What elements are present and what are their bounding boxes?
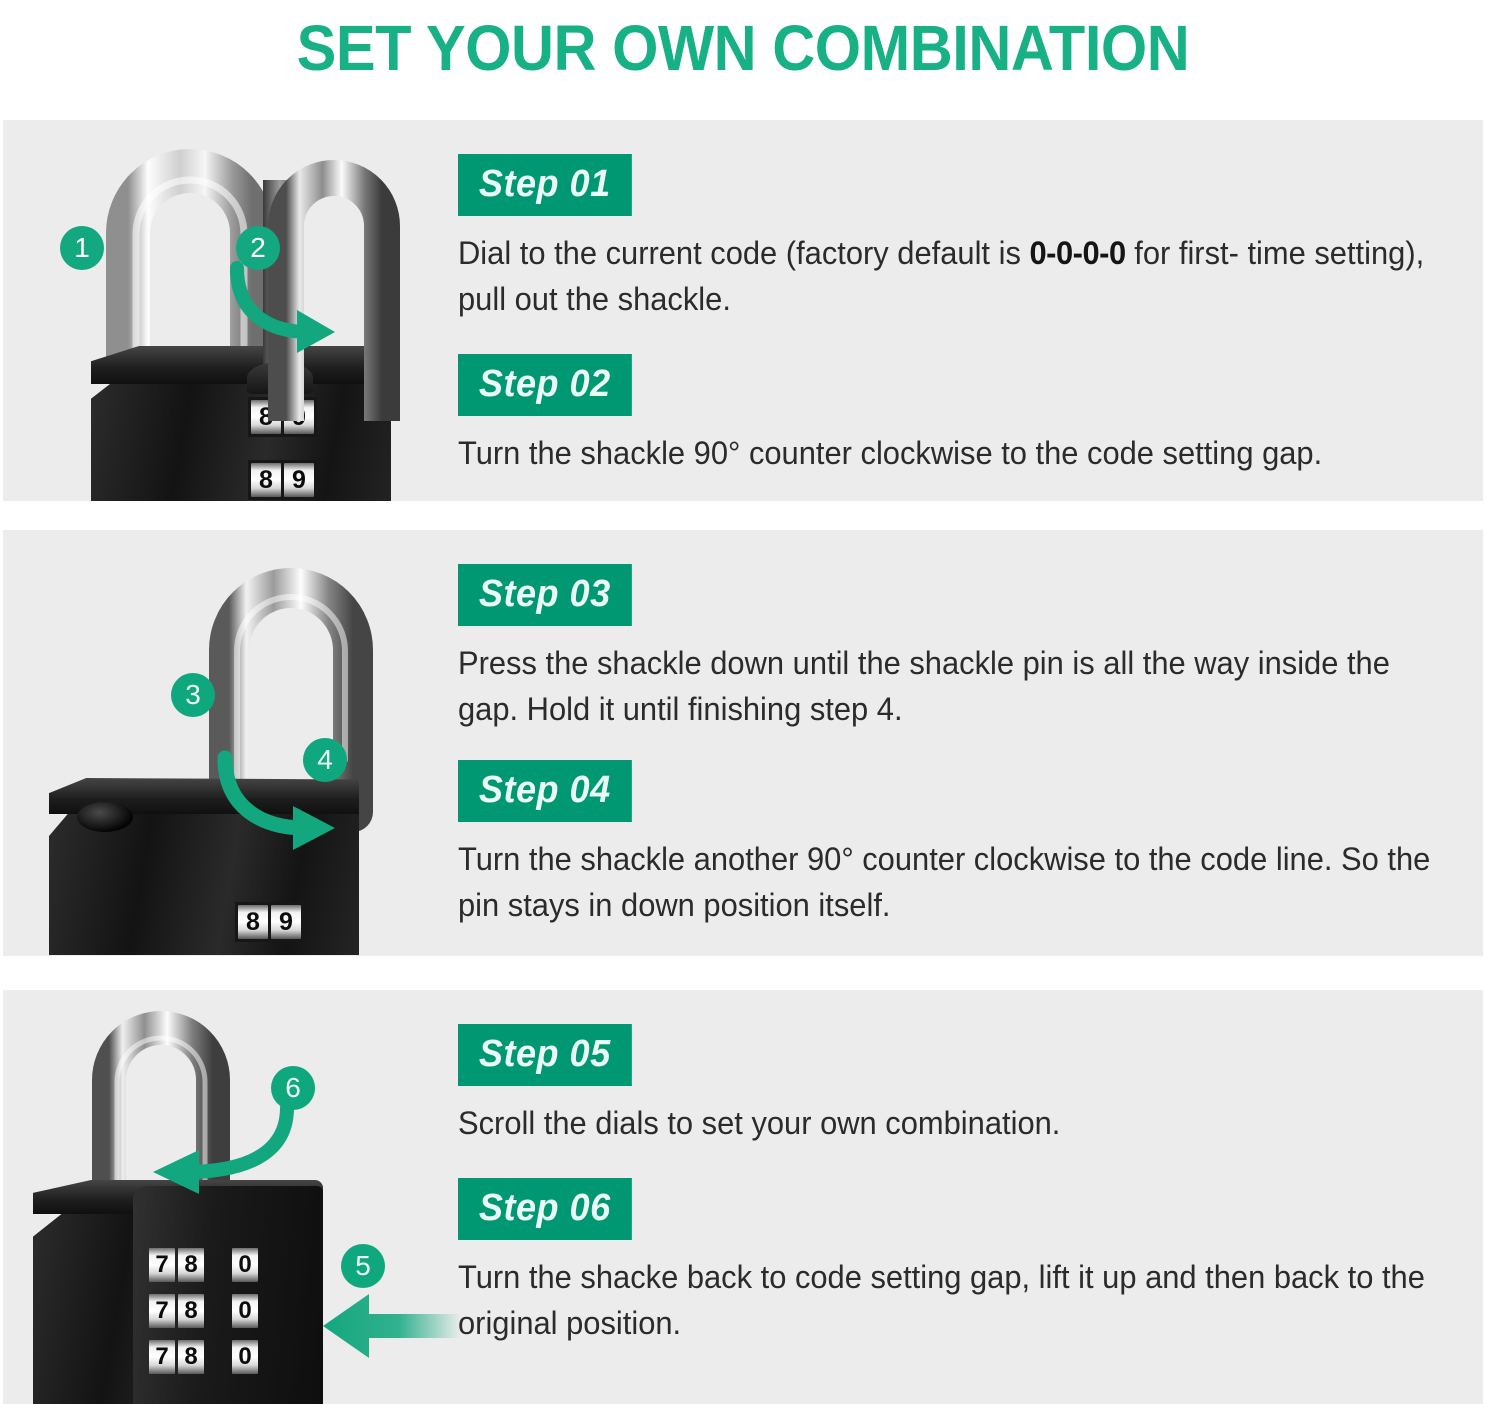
dial-digit[interactable]: 7 [149,1340,175,1374]
padlock-figure-3: 7 8 0 7 8 0 7 8 0 [3,990,458,1404]
step-block-02: Step 02 Turn the shackle 90° counter clo… [458,354,1443,476]
rotate-arrow-icon [119,1100,299,1210]
step-badge: Step 04 [458,760,632,822]
press-arrow-icon [321,1290,461,1362]
shackle-hole [77,802,133,832]
marker-3: 3 [171,673,215,717]
dial-digit[interactable]: 8 [251,463,281,497]
step-block-05: Step 05 Scroll the dials to set your own… [458,1024,1443,1146]
step-body-text: Turn the shacke back to code setting gap… [458,1254,1441,1346]
step-text-bold: 0-0-0-0 [1029,235,1125,271]
dial-digit[interactable]: 8 [238,905,268,939]
page-title: SET YOUR OWN COMBINATION [297,16,1190,80]
step-badge: Step 05 [458,1024,632,1086]
step-text-before: Scroll the dials to set your own combina… [458,1105,1060,1141]
marker-4: 4 [303,738,347,782]
dial-digit[interactable]: 7 [149,1294,175,1328]
dial-row[interactable]: 8 9 [238,905,301,939]
header-bar: SET YOUR OWN COMBINATION [0,0,1486,96]
dial-row[interactable]: 8 9 [251,463,314,497]
dial-group-a[interactable]: 8 9 [235,902,304,942]
dial-digit[interactable]: 0 [232,1340,258,1374]
step-text-before: Dial to the current code (factory defaul… [458,235,1029,271]
step-panel-1: 8 9 8 9 1 2 [3,120,1483,501]
step-badge: Step 01 [458,154,632,216]
padlock-figure-2: 8 9 3 4 [3,530,458,956]
dial-digit[interactable]: 0 [232,1248,258,1282]
dial-group-b[interactable]: 8 9 [248,460,317,500]
step-body-text: Scroll the dials to set your own combina… [458,1100,1441,1146]
padlock-figure-1: 8 9 8 9 1 2 [3,120,458,501]
step-panel-2: 8 9 3 4 Step 03 Press the shackle down u… [3,530,1483,956]
infographic-page: SET YOUR OWN COMBINATION [0,0,1486,1404]
marker-1: 1 [60,226,104,270]
step-text-before: Turn the shackle another 90° counter clo… [458,841,1430,923]
step-badge: Step 03 [458,564,632,626]
step-block-04: Step 04 Turn the shackle another 90° cou… [458,760,1443,928]
step-body-text: Dial to the current code (factory defaul… [458,230,1441,322]
marker-5: 5 [341,1244,385,1288]
step-badge: Step 02 [458,354,632,416]
step-block-03: Step 03 Press the shackle down until the… [458,564,1443,732]
step-block-01: Step 01 Dial to the current code (factor… [458,154,1443,322]
dial-row[interactable]: 7 8 0 [149,1294,258,1328]
dial-digit[interactable]: 0 [232,1294,258,1328]
dial-digit[interactable]: 9 [284,463,314,497]
step-block-06: Step 06 Turn the shacke back to code set… [458,1178,1443,1346]
step-text-column-1: Step 01 Dial to the current code (factor… [458,120,1483,501]
dial-digit[interactable]: 8 [178,1294,204,1328]
marker-6: 6 [271,1066,315,1110]
step-text-column-2: Step 03 Press the shackle down until the… [458,530,1483,956]
step-text-column-3: Step 05 Scroll the dials to set your own… [458,990,1483,1404]
dial-digit[interactable]: 7 [149,1248,175,1282]
dial-digit[interactable]: 8 [178,1248,204,1282]
step-panel-3: 7 8 0 7 8 0 7 8 0 [3,990,1483,1404]
dial-row[interactable]: 7 8 0 [149,1248,258,1282]
step-body-text: Turn the shackle 90° counter clockwise t… [458,430,1441,476]
step-badge: Step 06 [458,1178,632,1240]
step-body-text: Turn the shackle another 90° counter clo… [458,836,1441,928]
dial-row[interactable]: 7 8 0 [149,1340,258,1374]
dial-digit[interactable]: 8 [178,1340,204,1374]
marker-2: 2 [236,226,280,270]
step-text-before: Turn the shackle 90° counter clockwise t… [458,435,1322,471]
step-body-text: Press the shackle down until the shackle… [458,640,1441,732]
step-text-before: Turn the shacke back to code setting gap… [458,1259,1425,1341]
dial-group[interactable]: 7 8 0 7 8 0 7 8 0 [149,1248,258,1374]
dial-digit[interactable]: 9 [271,905,301,939]
rotate-arrow-icon [223,260,353,360]
step-text-before: Press the shackle down until the shackle… [458,645,1390,727]
